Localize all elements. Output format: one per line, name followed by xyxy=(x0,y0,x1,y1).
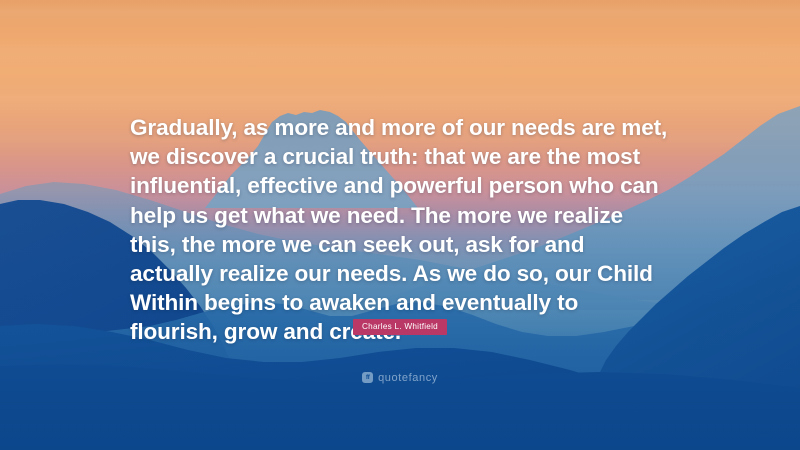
quote-poster: Gradually, as more and more of our needs… xyxy=(0,0,800,450)
quote-block: Gradually, as more and more of our needs… xyxy=(0,113,800,347)
author-attribution: Charles L. Whitfield xyxy=(0,316,800,335)
watermark-brand-label: quotefancy xyxy=(378,372,438,384)
watermark-inner[interactable]: ff quotefancy xyxy=(362,372,438,384)
quote-text: Gradually, as more and more of our needs… xyxy=(130,113,670,347)
author-badge[interactable]: Charles L. Whitfield xyxy=(353,319,447,335)
watermark: ff quotefancy xyxy=(0,366,800,384)
quotefancy-logo-icon: ff xyxy=(362,372,373,383)
